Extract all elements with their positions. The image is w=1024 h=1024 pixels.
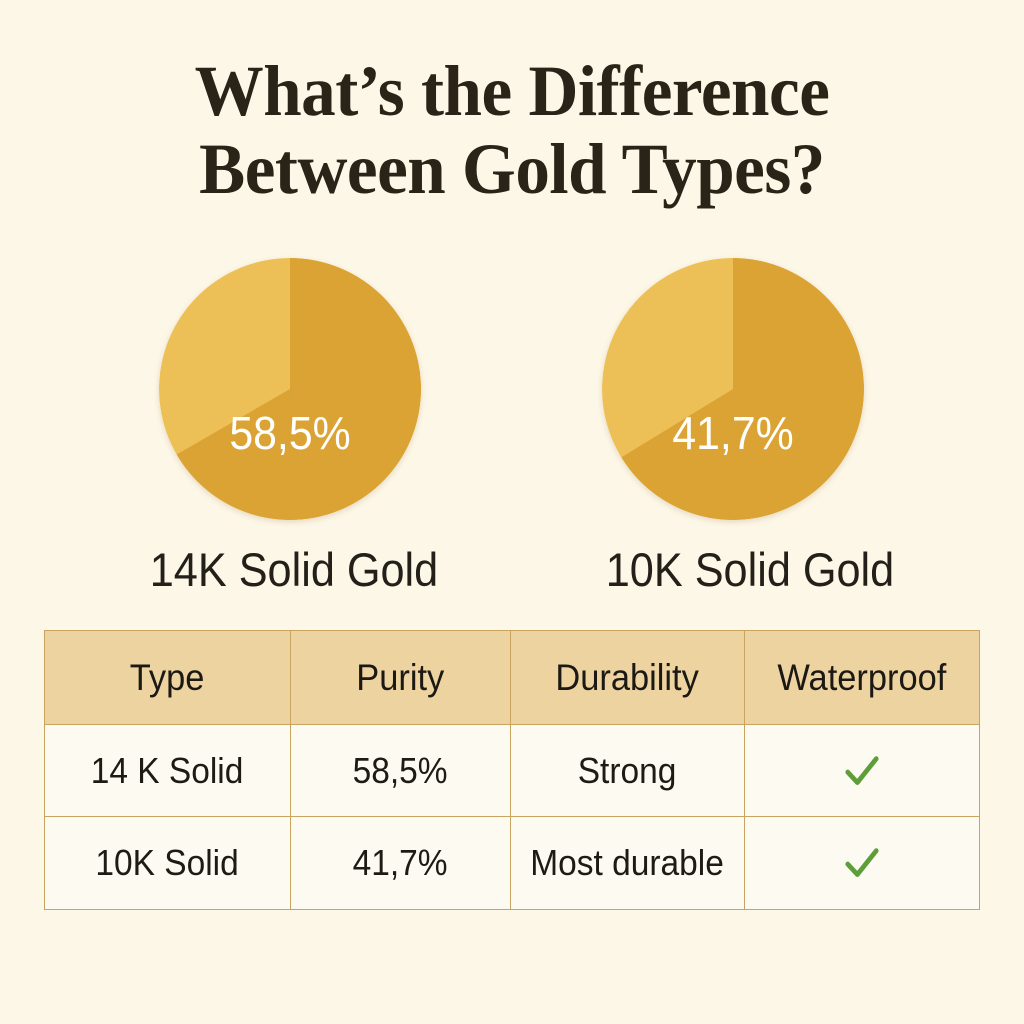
check-icon bbox=[841, 748, 884, 794]
table-cell-purity: 58,5% bbox=[291, 725, 511, 816]
table-cell-waterproof bbox=[745, 725, 979, 816]
pie-10k-value-label: 41,7% bbox=[611, 406, 855, 460]
table-cell-type: 10K Solid bbox=[45, 817, 291, 909]
table-cell-type: 14 K Solid bbox=[45, 725, 291, 816]
table-header-durability: Durability bbox=[511, 631, 745, 724]
pie-chart-10k-graphic bbox=[602, 258, 864, 520]
page-title-line-2: Between Gold Types? bbox=[20, 130, 1003, 208]
pie-chart-14k: 58,5% bbox=[159, 258, 421, 520]
comparison-table: Type Purity Durability Waterproof 14 K S… bbox=[44, 630, 980, 910]
table-header-purity-label: Purity bbox=[357, 657, 445, 699]
table-cell-durability: Strong bbox=[511, 725, 745, 816]
table-cell-durability-value: Most durable bbox=[531, 842, 725, 884]
pie-chart-14k-graphic bbox=[159, 258, 421, 520]
table-header-purity: Purity bbox=[291, 631, 511, 724]
table-header-waterproof: Waterproof bbox=[745, 631, 979, 724]
pie-caption-14k: 14K Solid Gold bbox=[119, 542, 469, 597]
gold-types-infographic: What’s the Difference Between Gold Types… bbox=[0, 0, 1024, 1024]
table-cell-durability-value: Strong bbox=[578, 750, 677, 792]
pie-14k-svg bbox=[159, 258, 421, 520]
page-title-line-1: What’s the Difference bbox=[20, 52, 1003, 130]
pie-10k-svg bbox=[602, 258, 864, 520]
table-header-waterproof-label: Waterproof bbox=[778, 657, 947, 699]
table-header-row: Type Purity Durability Waterproof bbox=[45, 631, 979, 725]
table-cell-type-value: 14 K Solid bbox=[91, 750, 244, 792]
table-cell-durability: Most durable bbox=[511, 817, 745, 909]
pie-chart-10k: 41,7% bbox=[602, 258, 864, 520]
check-icon bbox=[841, 840, 884, 886]
pie-chart-group: 58,5% 41,7% bbox=[0, 258, 1024, 528]
pie-14k-value-label: 58,5% bbox=[168, 406, 412, 460]
table-row: 14 K Solid 58,5% Strong bbox=[45, 725, 979, 817]
table-cell-purity-value: 41,7% bbox=[353, 842, 448, 884]
table-cell-purity: 41,7% bbox=[291, 817, 511, 909]
table-header-durability-label: Durability bbox=[556, 657, 699, 699]
pie-caption-10k: 10K Solid Gold bbox=[575, 542, 925, 597]
table-cell-type-value: 10K Solid bbox=[96, 842, 239, 884]
table-header-type-label: Type bbox=[130, 657, 205, 699]
page-title: What’s the Difference Between Gold Types… bbox=[0, 52, 1024, 208]
table-row: 10K Solid 41,7% Most durable bbox=[45, 817, 979, 909]
table-cell-purity-value: 58,5% bbox=[353, 750, 448, 792]
table-header-type: Type bbox=[45, 631, 291, 724]
table-cell-waterproof bbox=[745, 817, 979, 909]
